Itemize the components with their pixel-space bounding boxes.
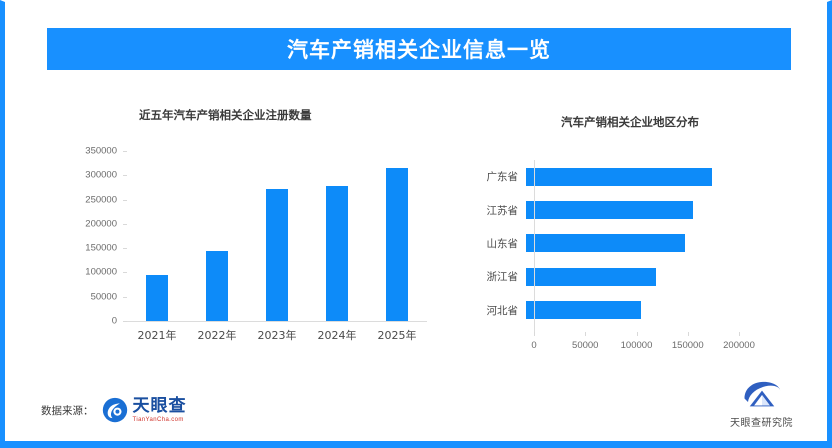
- category-label: 广东省: [460, 169, 526, 184]
- y-axis-tick-label: 350000: [85, 146, 117, 157]
- tianyancha-mark-icon: [102, 397, 128, 423]
- left-chart-title: 近五年汽车产销相关企业注册数量: [53, 107, 443, 123]
- page-title: 汽车产销相关企业信息一览: [287, 34, 551, 64]
- vertical-bars-plot: [127, 151, 427, 322]
- y-axis-tick: [123, 224, 127, 225]
- x-axis-tick: [739, 332, 740, 336]
- y-axis-tick: [123, 272, 127, 273]
- bar-track: [526, 227, 731, 260]
- y-axis-tick: [123, 248, 127, 249]
- tianyancha-name-en: TianYanCha.com: [133, 417, 187, 423]
- region-distribution-chart: 汽车产销相关企业地区分布 广东省江苏省山东省浙江省河北省 05000010000…: [460, 114, 800, 374]
- table-row: 浙江省: [460, 260, 800, 293]
- bar-slot: [127, 151, 187, 321]
- bar-track: [526, 193, 731, 226]
- bar: [526, 168, 712, 186]
- bar-slot: [247, 151, 307, 321]
- table-row: 江苏省: [460, 193, 800, 226]
- y-axis-tick-label: 100000: [85, 267, 117, 278]
- title-banner: 汽车产销相关企业信息一览: [47, 28, 791, 70]
- x-axis-scale: 050000100000150000200000: [534, 332, 739, 358]
- registration-count-chart: 近五年汽车产销相关企业注册数量 050000100000150000200000…: [53, 107, 443, 372]
- y-axis-tick: [123, 151, 127, 152]
- tianyancha-logo: 天眼查 TianYanCha.com: [102, 397, 187, 423]
- x-axis-tick: [688, 332, 689, 336]
- horizontal-bar-chart-area: 广东省江苏省山东省浙江省河北省 050000100000150000200000: [460, 160, 800, 370]
- x-axis-tick-label: 2021年: [127, 327, 187, 343]
- bar-slot: [367, 151, 427, 321]
- bar: [326, 186, 348, 321]
- bar: [266, 189, 288, 321]
- y-axis-tick-label: 300000: [85, 170, 117, 181]
- y-axis-tick-label: 150000: [85, 243, 117, 254]
- bar-track: [526, 160, 731, 193]
- bar-track: [526, 260, 731, 293]
- bar: [526, 201, 693, 219]
- x-axis-tick-label: 100000: [621, 340, 653, 351]
- y-axis-tick-label: 200000: [85, 218, 117, 229]
- bar: [526, 234, 685, 252]
- data-source: 数据来源： 天眼查 TianYanCha.com: [41, 397, 187, 423]
- x-axis-tick-label: 2025年: [367, 327, 427, 343]
- x-axis-tick-label: 50000: [572, 340, 598, 351]
- y-axis-tick: [123, 200, 127, 201]
- bar: [526, 301, 641, 319]
- y-axis-tick-label: 250000: [85, 194, 117, 205]
- category-label: 江苏省: [460, 203, 526, 218]
- bar: [526, 268, 656, 286]
- vertical-bar-chart-area: 0500001000001500002000002500003000003500…: [53, 151, 443, 366]
- table-row: 广东省: [460, 160, 800, 193]
- y-axis-tick-label: 0: [112, 316, 117, 327]
- y-axis-tick-label: 50000: [91, 291, 117, 302]
- x-axis-tick-label: 150000: [672, 340, 704, 351]
- research-institute-name: 天眼查研究院: [730, 414, 793, 429]
- tianyancha-wordmark: 天眼查 TianYanCha.com: [133, 398, 187, 423]
- data-source-label: 数据来源：: [41, 403, 94, 418]
- x-axis-tick-label: 2022年: [187, 327, 247, 343]
- infographic-page: 汽车产销相关企业信息一览 近五年汽车产销相关企业注册数量 05000010000…: [0, 0, 832, 448]
- x-axis-tick: [637, 332, 638, 336]
- table-row: 河北省: [460, 294, 800, 327]
- x-axis-tick-label: 2024年: [307, 327, 367, 343]
- category-label: 河北省: [460, 303, 526, 318]
- y-axis-tick: [123, 321, 127, 322]
- horizontal-bars-plot: 广东省江苏省山东省浙江省河北省: [460, 160, 800, 327]
- x-axis-tick: [534, 332, 535, 336]
- x-axis-tick-label: 2023年: [247, 327, 307, 343]
- y-axis-labels: 0500001000001500002000002500003000003500…: [53, 151, 121, 321]
- right-chart-title: 汽车产销相关企业地区分布: [460, 114, 800, 130]
- bar-slot: [187, 151, 247, 321]
- x-axis-labels: 2021年2022年2023年2024年2025年: [127, 327, 427, 343]
- vertical-axis-line: [534, 160, 535, 332]
- category-label: 浙江省: [460, 269, 526, 284]
- bar: [206, 251, 228, 321]
- x-axis-tick-label: 200000: [723, 340, 755, 351]
- bar: [386, 168, 408, 321]
- table-row: 山东省: [460, 227, 800, 260]
- category-label: 山东省: [460, 236, 526, 251]
- tianyancha-name-cn: 天眼查: [133, 398, 187, 415]
- bar-slot: [307, 151, 367, 321]
- y-axis-tick: [123, 175, 127, 176]
- bar: [146, 275, 168, 321]
- research-institute-brand: 天眼查研究院: [730, 379, 793, 429]
- x-axis-tick-label: 0: [531, 340, 536, 351]
- x-axis-tick: [585, 332, 586, 336]
- bar-track: [526, 294, 731, 327]
- research-institute-icon: [741, 379, 783, 411]
- y-axis-tick: [123, 297, 127, 298]
